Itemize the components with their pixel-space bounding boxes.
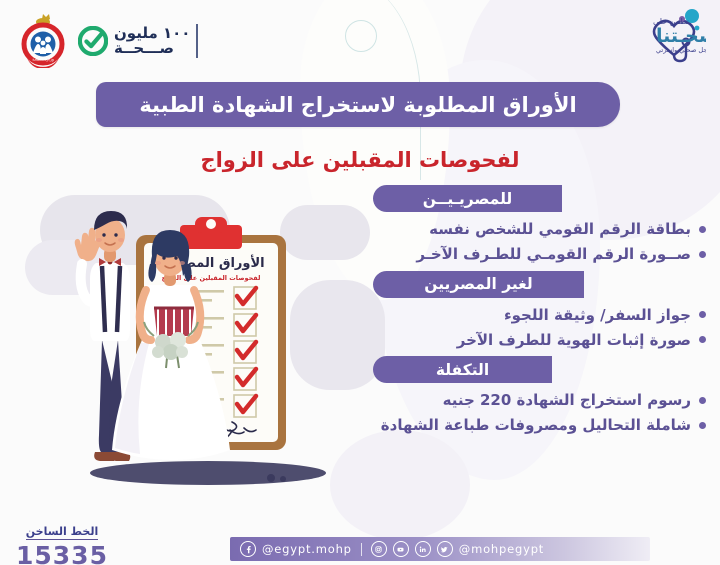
section-cost: التكفلة رسوم استخراج الشهادة 220 جنيه شا… [365, 356, 720, 436]
bullet-icon [699, 422, 706, 429]
list-item-text: شاملة التحاليل ومصروفات طباعة الشهادة [381, 415, 691, 435]
bullet-icon [699, 251, 706, 258]
egypt-ministry-of-health-logo: وزارة الصحة [16, 12, 70, 68]
campaign-logo-sahetna: نطمن على صحـتنا اجل صحتي واسرتي [578, 6, 706, 64]
section-non-egyptians: لغير المصريين جواز السفر/ وثيقة اللجوء ص… [365, 271, 720, 351]
list-item: بطاقة الرقم القومي للشخص نفسه [365, 219, 706, 239]
main-title-banner: الأوراق المطلوبة لاستخراج الشهادة الطبية [96, 82, 620, 127]
svg-text:وزارة الصحة: وزارة الصحة [32, 57, 54, 62]
hotline-number: 15335 [12, 541, 112, 565]
bullet-icon [699, 397, 706, 404]
infographic-poster: وزارة الصحة ١٠٠ مليون صـــحــة [0, 0, 720, 565]
bullet-icon [699, 336, 706, 343]
campaign-main-text: صحـتنا [656, 25, 706, 47]
bullet-icon [699, 311, 706, 318]
linkedin-icon[interactable] [415, 541, 431, 557]
poster-header: وزارة الصحة ١٠٠ مليون صـــحــة [0, 0, 720, 78]
facebook-icon[interactable] [240, 541, 256, 557]
list-item: شاملة التحاليل ومصروفات طباعة الشهادة [365, 415, 706, 435]
hotline-label: الخط الساخن [26, 525, 99, 540]
page-title: الأوراق المطلوبة لاستخراج الشهادة الطبية [139, 93, 576, 117]
list-item-text: صورة إثبات الهوية للطرف الآخر [457, 330, 691, 350]
list-item-text: بطاقة الرقم القومي للشخص نفسه [429, 219, 691, 239]
list-item-text: رسوم استخراج الشهادة 220 جنيه [443, 390, 691, 410]
list-item: رسوم استخراج الشهادة 220 جنيه [365, 390, 706, 410]
list-item-text: جواز السفر/ وثيقة اللجوء [504, 305, 691, 325]
section-items-egyptians: بطاقة الرقم القومي للشخص نفسه صــورة الر… [365, 212, 720, 265]
hundred-million-health-logo: ١٠٠ مليون صـــحــة [78, 20, 198, 62]
list-item: صورة إثبات الهوية للطرف الآخر [365, 330, 706, 350]
page-subtitle: لفحوصات المقبلين على الزواج [0, 148, 720, 172]
bride-and-groom-with-clipboard-illustration: الأوراق المطلوبة لفحوصات المقبلين على ال… [58, 190, 378, 510]
section-heading-cost: التكفلة [373, 356, 552, 383]
mohp-handle[interactable]: @mohpegypt [459, 542, 544, 556]
youtube-icon[interactable] [393, 541, 409, 557]
section-egyptians: للمصريـيــن بطاقة الرقم القومي للشخص نفس… [365, 185, 720, 265]
twitter-icon[interactable] [437, 541, 453, 557]
list-item: صــورة الرقم القومـي للطـرف الآخـر [365, 244, 706, 264]
campaign-sub-text: اجل صحتي واسرتي [656, 46, 706, 54]
facebook-handle[interactable]: @egypt.mohp [262, 542, 352, 556]
clipboard-subtitle: لفحوصات المقبلين على الزواج [162, 274, 261, 282]
bullet-icon [699, 226, 706, 233]
green-check-circle-icon [78, 26, 108, 56]
social-divider [361, 543, 362, 556]
logo-divider [196, 24, 198, 58]
hotline-block: الخط الساخن 15335 [12, 520, 112, 565]
list-item: جواز السفر/ وثيقة اللجوء [365, 305, 706, 325]
list-item-text: صــورة الرقم القومـي للطـرف الآخـر [416, 244, 691, 264]
social-media-bar: @egypt.mohp @m [230, 537, 650, 561]
section-items-cost: رسوم استخراج الشهادة 220 جنيه شاملة التح… [365, 383, 720, 436]
section-heading-egyptians: للمصريـيــن [373, 185, 562, 212]
requirements-sections: للمصريـيــن بطاقة الرقم القومي للشخص نفس… [365, 185, 720, 442]
instagram-icon[interactable] [371, 541, 387, 557]
section-items-non-egyptians: جواز السفر/ وثيقة اللجوء صورة إثبات الهو… [365, 298, 720, 351]
section-heading-non-egyptians: لغير المصريين [373, 271, 584, 298]
hundred-million-line2: صـــحــة [114, 41, 174, 56]
